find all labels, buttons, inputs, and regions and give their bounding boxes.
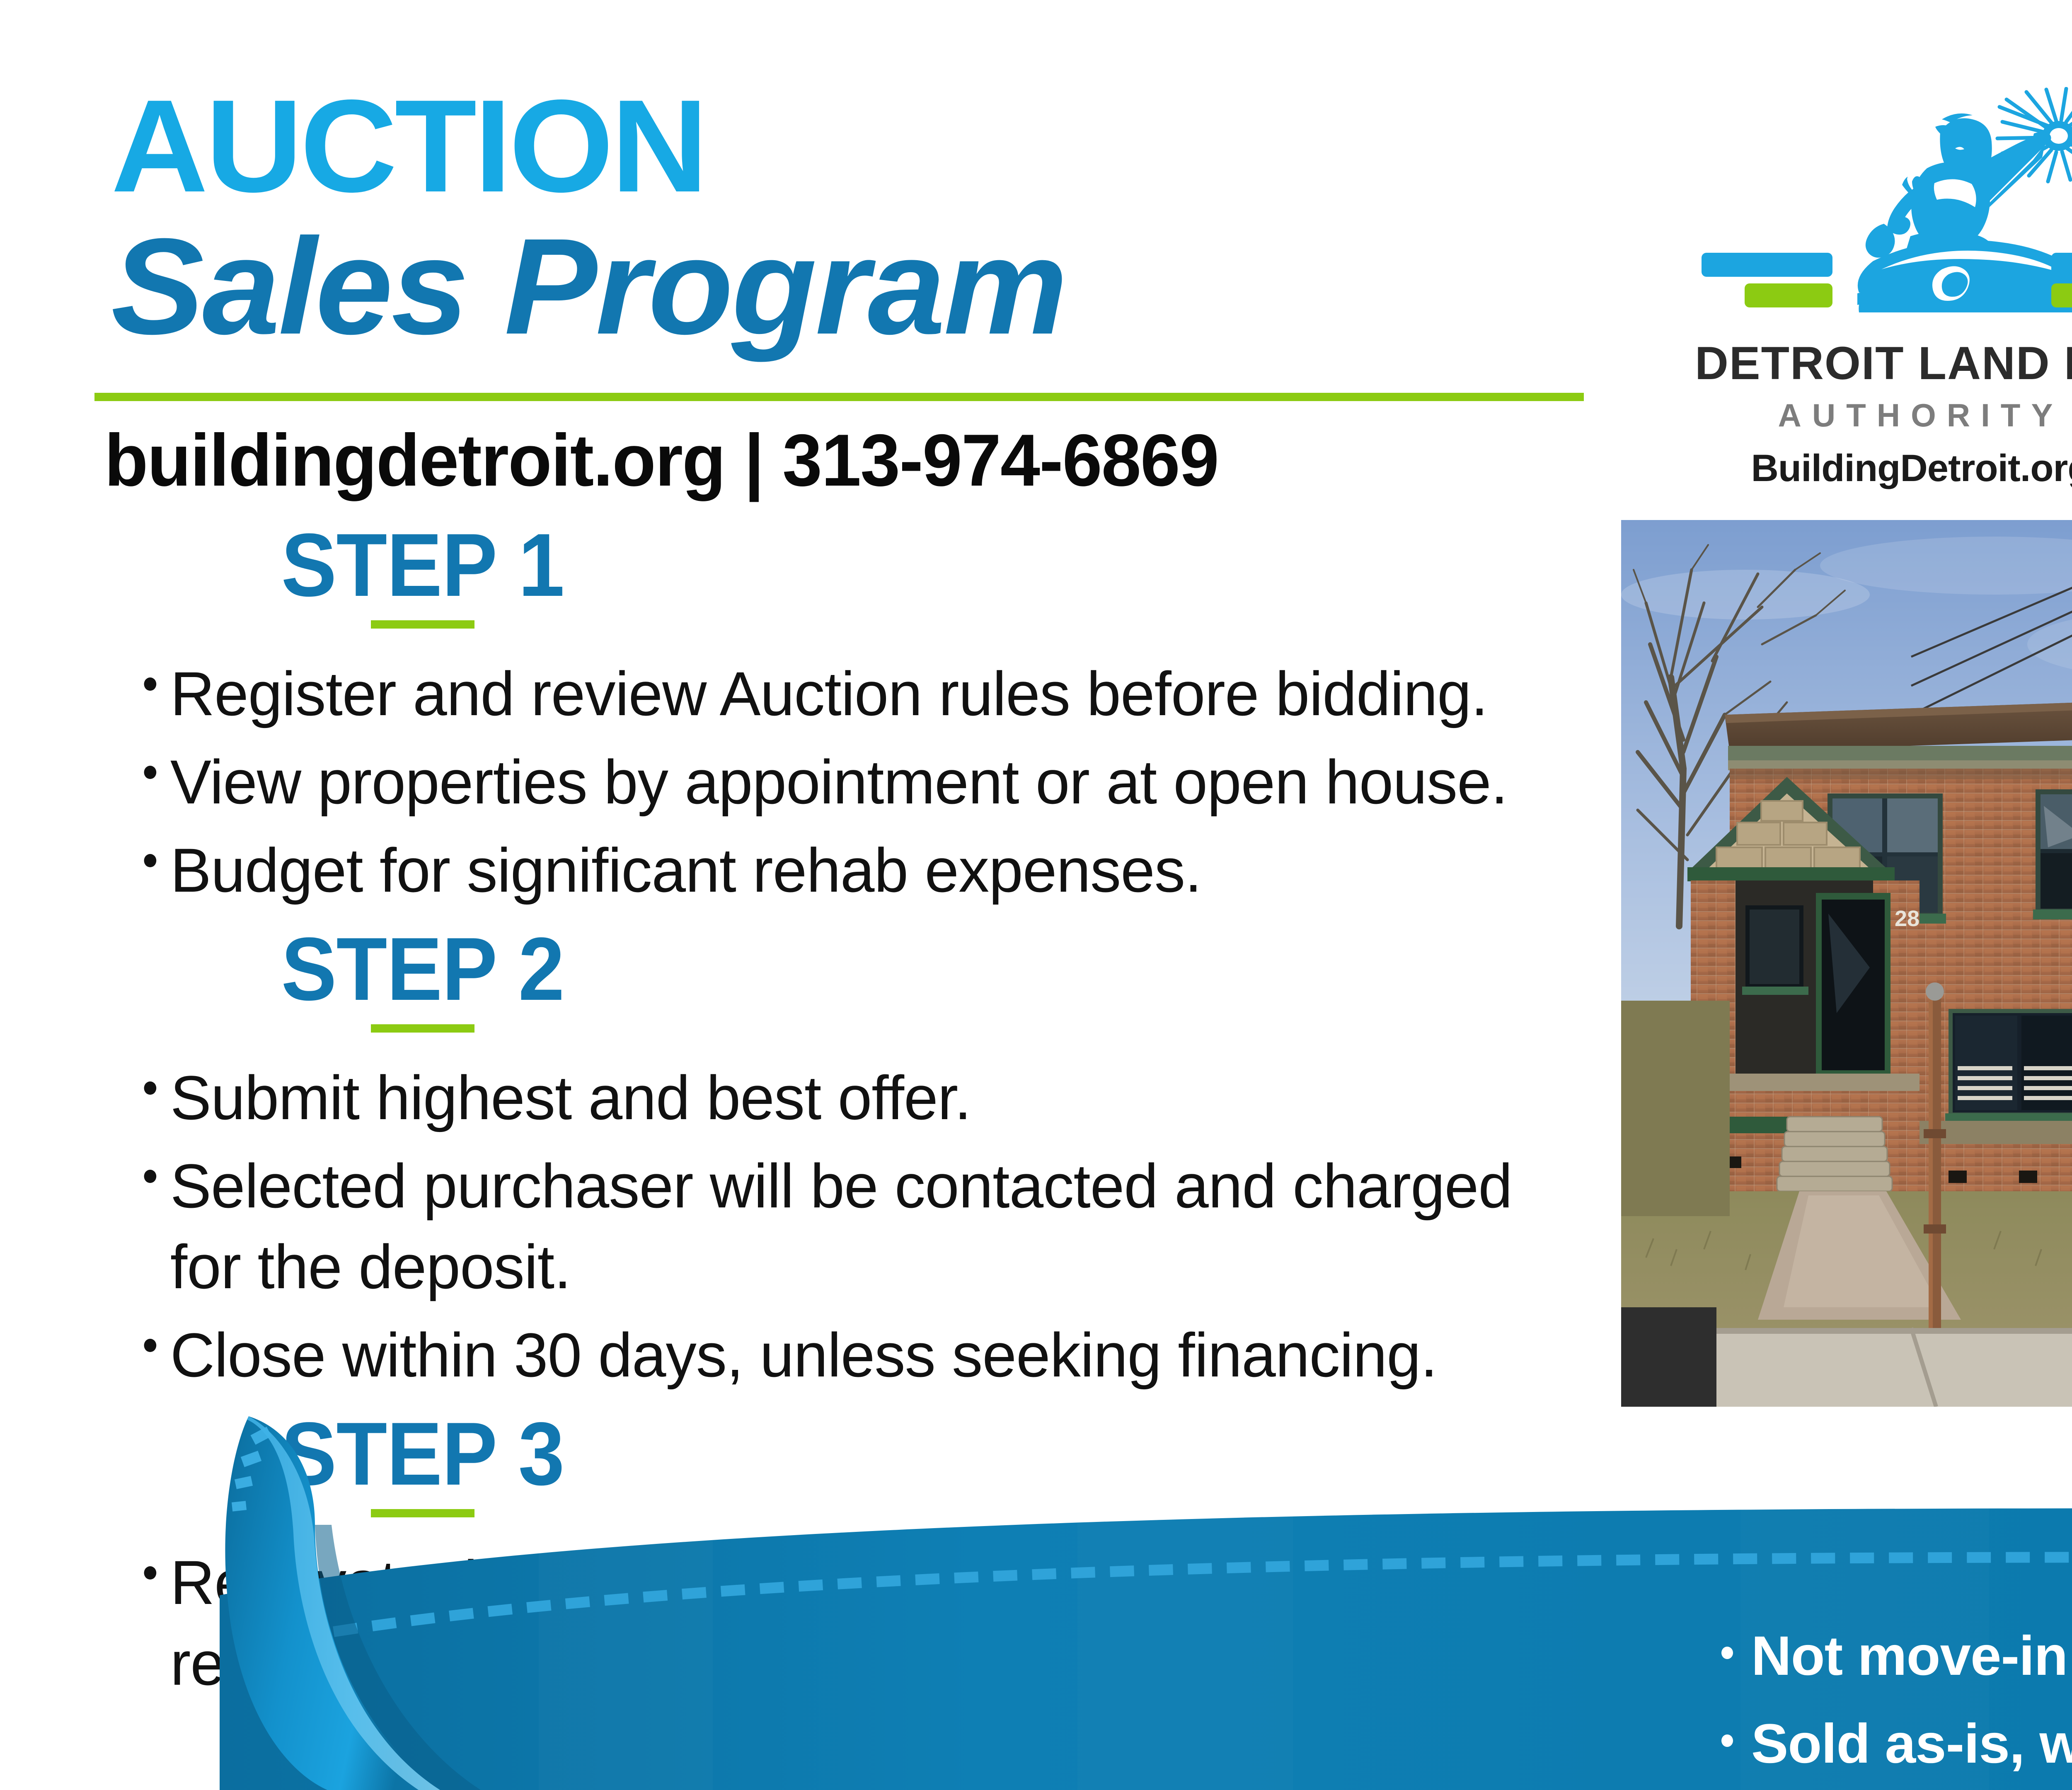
step-1-title: STEP 1 [145,520,700,610]
step-1-underline [371,620,474,629]
list-item: Selected purchaser will be contacted and… [124,1146,1519,1307]
step-block-2: STEP 2 Submit highest and best offer. Se… [124,924,1533,1396]
logo-url[interactable]: BuildingDetroit.org [1695,447,2072,490]
step-2-title: STEP 2 [145,924,700,1014]
list-item: Not move-in ready [1711,1628,2072,1684]
detroit-land-bank-logo: DETROIT LAND BANK AUTHORITY BuildingDetr… [1695,87,2072,490]
list-item: Register and review Auction rules before… [124,653,1519,734]
step-block-1: STEP 1 Register and review Auction rules… [124,520,1533,911]
list-item: Budget for significant rehab expenses. [124,830,1519,911]
list-item: Sold as-is, where-is [1711,1716,2072,1772]
spirit-of-detroit-icon [1695,87,2072,327]
header-divider [94,393,1584,401]
title-sales-program: Sales Program [111,217,1633,356]
contact-info[interactable]: buildingdetroit.org | 313-974-6869 [104,418,1218,503]
list-item: View properties by appointment or at ope… [124,742,1519,822]
step-1-bullets: Register and review Auction rules before… [124,653,1533,911]
logo-name: DETROIT LAND BANK [1695,336,2072,390]
logo-subtitle: AUTHORITY [1695,397,2072,434]
svg-text:28: 28 [1895,906,1920,931]
title-auction: AUCTION [111,83,1633,209]
step-2-underline [371,1024,474,1033]
property-photo: 28 [1621,520,2072,1407]
ribbon-bullets: Not move-in ready Sold as-is, where-is [1711,1628,2072,1790]
list-item: Submit highest and best offer. [124,1057,1519,1138]
page-title: AUCTION Sales Program [111,83,1603,356]
list-item: Close within 30 days, unless seeking fin… [124,1315,1519,1396]
auction-flyer-page: AUCTION Sales Program buildingdetroit.or… [0,0,2072,1790]
step-1-header: STEP 1 [124,520,721,629]
step-2-header: STEP 2 [124,924,721,1033]
step-2-bullets: Submit highest and best offer. Selected … [124,1057,1533,1396]
